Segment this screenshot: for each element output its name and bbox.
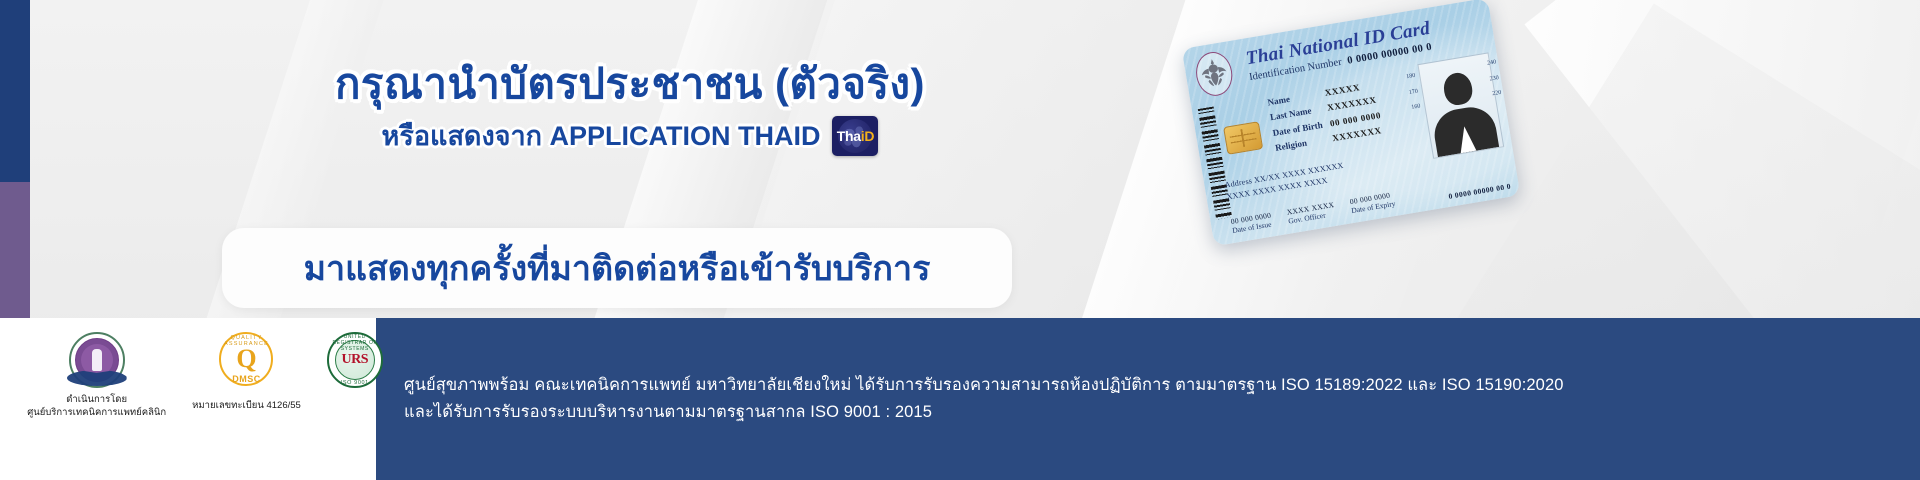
tick-label: 230	[1489, 71, 1500, 88]
logo-caption-line: ดำเนินการโดย	[27, 394, 166, 407]
callout-text: มาแสดงทุกครั้งที่มาติดต่อหรือเข้ารับบริก…	[304, 241, 931, 295]
logo-block-cmu: ดำเนินการโดย ศูนย์บริการเทคนิคการแพทย์คล…	[27, 332, 166, 420]
seal-top-text: UNITED REGISTRAR OF SYSTEMS	[327, 334, 383, 352]
garuda-emblem-icon	[1193, 49, 1236, 98]
urs-iso9001-seal-icon: URS UNITED REGISTRAR OF SYSTEMS ISO 9001	[327, 332, 383, 388]
logo-caption: หมายเลขทะเบียน 4126/55	[192, 400, 301, 413]
seal-bottom-text: ISO 9001	[327, 380, 383, 386]
footer-accreditation-text: ศูนย์สุขภาพพร้อม คณะเทคนิคการแพทย์ มหาวิ…	[376, 318, 1920, 480]
footer-logos: ดำเนินการโดย ศูนย์บริการเทคนิคการแพทย์คล…	[0, 318, 376, 480]
logo-caption: ดำเนินการโดย ศูนย์บริการเทคนิคการแพทย์คล…	[27, 394, 166, 420]
tick-label: 220	[1491, 86, 1502, 103]
tick-label: 180	[1405, 69, 1416, 86]
headline-block: กรุณานำบัตรประชาชน (ตัวจริง) หรือแสดงจาก…	[250, 60, 1010, 157]
subtitle-row: หรือแสดงจาก APPLICATION THAID ThaiD	[250, 114, 1010, 157]
page-subtitle: หรือแสดงจาก APPLICATION THAID	[382, 114, 821, 157]
footer-text-line-2: และได้รับการรับรองระบบบริหารงานตามมาตรฐา…	[404, 399, 1920, 426]
card-bottom-item: 00 000 0000Date of Expiry	[1349, 190, 1396, 215]
card-bottom-item: XXXX XXXXGov. Officer	[1286, 200, 1336, 226]
banner-stage: กรุณานำบัตรประชาชน (ตัวจริง) หรือแสดงจาก…	[0, 0, 1920, 480]
cmu-amtc-seal-icon	[69, 332, 125, 388]
card-bottom-item: 00 000 0000Date of Issue	[1230, 211, 1273, 235]
logo-block-dmsc: QUALITY ASSURANCE Q DMSC หมายเลขทะเบียน …	[192, 332, 301, 413]
tick-label: 160	[1410, 100, 1421, 117]
page-title: กรุณานำบัตรประชาชน (ตัวจริง)	[250, 60, 1010, 108]
tick-label: 240	[1486, 55, 1497, 72]
dmsc-quality-assurance-seal-icon: QUALITY ASSURANCE Q DMSC	[219, 332, 273, 386]
footer-text-line-1: ศูนย์สุขภาพพร้อม คณะเทคนิคการแพทย์ มหาวิ…	[404, 372, 1920, 399]
smartcard-chip-icon	[1223, 121, 1263, 155]
portrait-head	[1442, 71, 1475, 107]
tick-label: 170	[1408, 84, 1419, 101]
callout-pill: มาแสดงทุกครั้งที่มาติดต่อหรือเข้ารับบริก…	[222, 228, 1012, 308]
seal-bottom-text: DMSC	[219, 374, 273, 384]
logo-caption-line: หมายเลขทะเบียน 4126/55	[192, 400, 301, 413]
logo-block-urs: URS UNITED REGISTRAR OF SYSTEMS ISO 9001	[327, 332, 383, 388]
card-address: Address XX/XX XXXX XXXXXX XXXX XXXX XXXX…	[1224, 160, 1347, 203]
thaid-app-logo: ThaiD	[832, 116, 878, 156]
card-serial-number: 0 0000 00000 00 0	[1448, 182, 1512, 201]
thaid-logo-text: ThaiD	[837, 129, 874, 143]
left-accent-bar-blue	[0, 0, 30, 182]
footer: ดำเนินการโดย ศูนย์บริการเทคนิคการแพทย์คล…	[0, 318, 1920, 480]
logo-caption-line: ศูนย์บริการเทคนิคการแพทย์คลินิก	[27, 407, 166, 420]
card-field-list: NameXXXXX Last NameXXXXXXX Date of Birth…	[1266, 77, 1384, 156]
seal-center-text: URS	[342, 352, 369, 368]
